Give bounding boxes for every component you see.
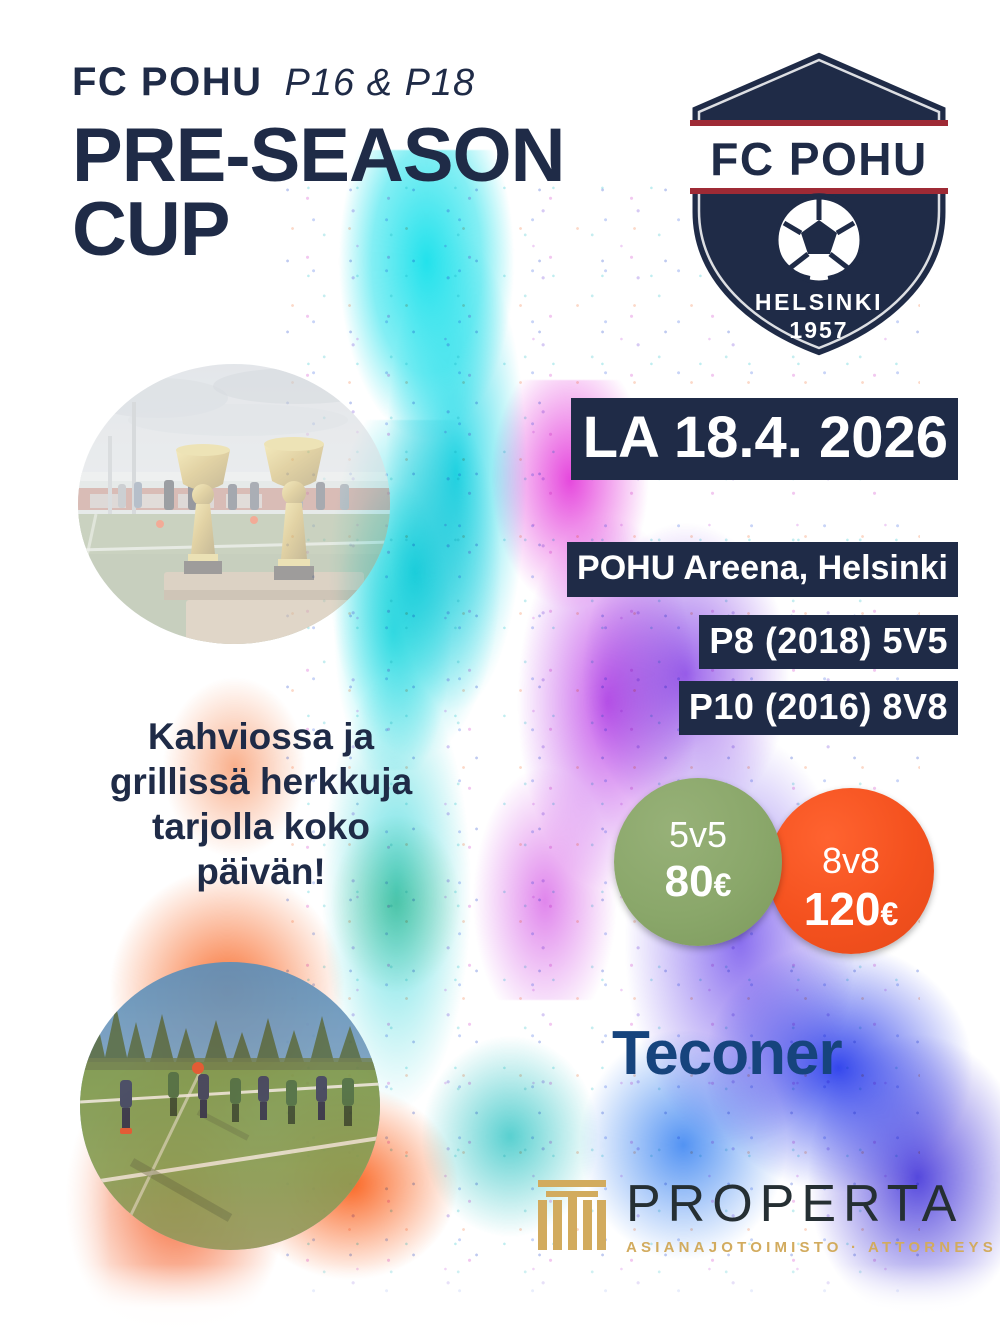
properta-name: PROPERTA [626,1178,997,1230]
crest-club-name: FC POHU [710,133,928,185]
sponsor-teconer-logo: Teconer [612,1018,842,1089]
currency-5v5: € [714,867,732,903]
fc-pohu-crest-logo: FC POHU HELSINKI 1957 [676,44,962,364]
poster-root: FC POHU P16 & P18 PRE-SEASON CUP FC POHU [0,0,1000,1334]
price-format-5v5: 5v5 [669,817,727,853]
title-line-2: CUP [72,193,692,267]
currency-8v8: € [880,896,898,932]
properta-pillar-icon [536,1178,608,1252]
club-name: FC POHU [72,60,263,105]
price-amount-8v8: 120€ [804,883,899,936]
age-groups: P16 & P18 [285,62,476,105]
bottom-white-fade [0,1264,1000,1334]
price-format-8v8: 8v8 [822,843,880,879]
price-value-5v5: 80 [665,857,714,906]
match-photo [80,962,380,1250]
price-amount-5v5: 80€ [665,857,732,908]
properta-text-block: PROPERTA ASIANAJOTOIMISTO · ATTORNEYS [626,1178,997,1256]
price-badge-8v8: 8v8 120€ [768,788,934,954]
header-kicker: FC POHU P16 & P18 [72,60,692,105]
event-venue: POHU Areena, Helsinki [567,542,958,596]
properta-tagline: ASIANAJOTOIMISTO · ATTORNEYS [626,1239,997,1256]
crest-city: HELSINKI [755,289,883,315]
category-p10: P10 (2016) 8V8 [679,681,958,735]
football-icon [777,195,861,282]
cafe-note: Kahviossa ja grillissä herkkuja tarjolla… [86,714,436,895]
trophies-photo [78,364,390,644]
page-title: PRE-SEASON CUP [72,119,692,266]
crest-founded: 1957 [789,317,848,343]
poster-header: FC POHU P16 & P18 PRE-SEASON CUP [72,60,692,266]
price-badge-5v5: 5v5 80€ [614,778,782,946]
event-details: LA 18.4. 2026 POHU Areena, Helsinki P8 (… [358,398,958,735]
event-date: LA 18.4. 2026 [571,398,958,480]
title-line-1: PRE-SEASON [72,113,565,198]
price-value-8v8: 120 [804,883,881,935]
sponsor-properta-logo: PROPERTA ASIANAJOTOIMISTO · ATTORNEYS [536,1178,997,1256]
category-p8: P8 (2018) 5V5 [699,615,958,669]
